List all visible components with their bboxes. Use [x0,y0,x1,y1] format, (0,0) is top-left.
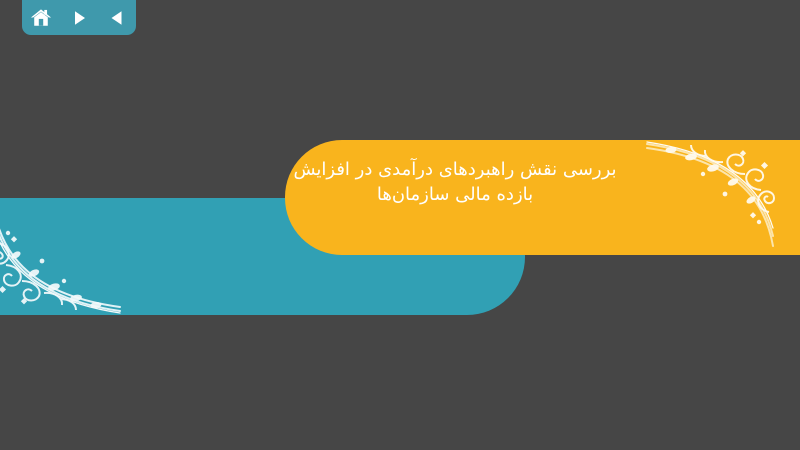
triangle-right-icon [69,8,89,28]
slide-navigation-bar [22,0,136,35]
home-icon [30,7,52,29]
slide-title-line-2: بازده مالی سازمان‌ها [220,182,690,207]
next-slide-button[interactable] [67,6,91,30]
slide-title: بررسی نقش راهبردهای درآمدی در افزایش باز… [220,157,690,207]
arabesque-corner-ornament-teal [0,203,122,315]
triangle-left-icon [107,8,127,28]
presentation-slide: بررسی نقش راهبردهای درآمدی در افزایش باز… [0,0,800,450]
previous-slide-button[interactable] [105,6,129,30]
slide-title-line-1: بررسی نقش راهبردهای درآمدی در افزایش [220,157,690,182]
home-button[interactable] [29,6,53,30]
